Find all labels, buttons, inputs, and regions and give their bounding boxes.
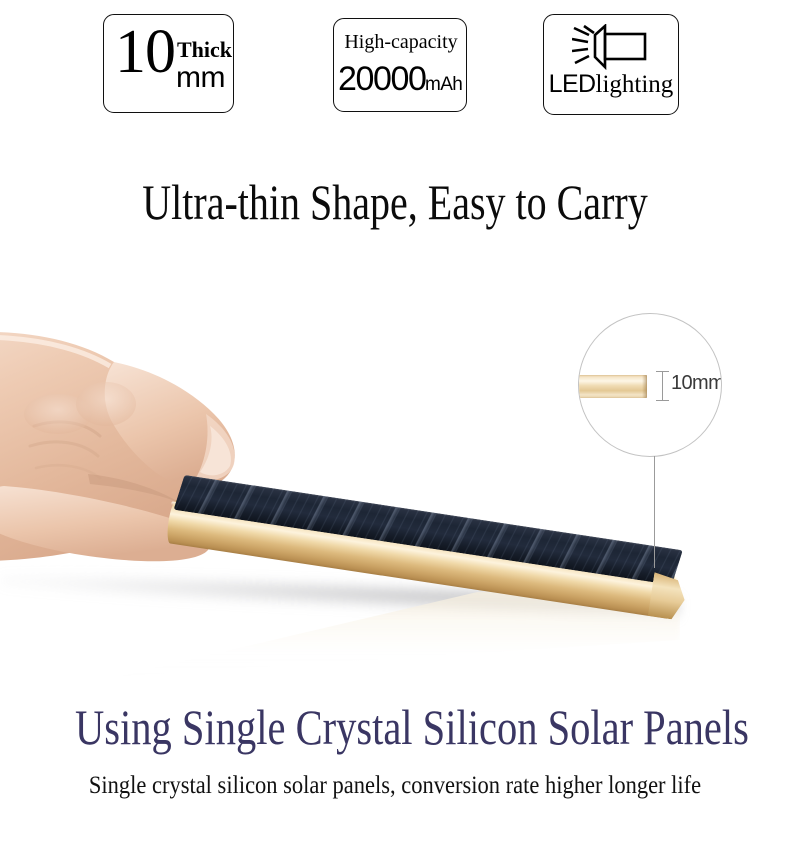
thickness-callout-magnifier: 10mm [578, 313, 722, 457]
badge-thickness: 10 Thick mm [103, 14, 234, 113]
capacity-title: High-capacity [342, 31, 460, 54]
caliper-line [662, 371, 663, 401]
thickness-unit: mm [176, 61, 225, 95]
capacity-number: 20000 [338, 60, 426, 99]
product-feature-banner: 10 Thick mm High-capacity 20000 mAh [0, 0, 790, 853]
headline-bottom: Using Single Crystal Silicon Solar Panel… [75, 698, 715, 756]
badge-led-content: LEDlighting [544, 15, 678, 114]
thickness-number: 10 [115, 21, 175, 83]
led-word: lighting [596, 71, 674, 98]
capacity-unit: mAh [425, 74, 462, 96]
headline-top: Ultra-thin Shape, Easy to Carry [79, 173, 711, 231]
edge-profile-bar [578, 375, 647, 398]
badge-capacity-content: High-capacity 20000 mAh [334, 19, 466, 111]
device-end-cap [648, 572, 688, 621]
caliper-tick-bottom [656, 400, 669, 401]
badge-capacity: High-capacity 20000 mAh [333, 18, 467, 112]
led-label: LEDlighting [544, 70, 678, 99]
flashlight-icon [572, 24, 654, 70]
callout-leader-line [654, 456, 655, 568]
thickness-word: Thick [177, 37, 232, 63]
feature-badge-row: 10 Thick mm High-capacity 20000 mAh [0, 14, 790, 122]
badge-led-lighting: LEDlighting [543, 14, 679, 115]
callout-label: 10mm [671, 372, 722, 395]
led-abbr: LED [549, 70, 596, 98]
caliper-icon [656, 369, 670, 403]
subline-text: Single crystal silicon solar panels, con… [40, 772, 751, 800]
badge-thickness-content: 10 Thick mm [104, 15, 233, 112]
